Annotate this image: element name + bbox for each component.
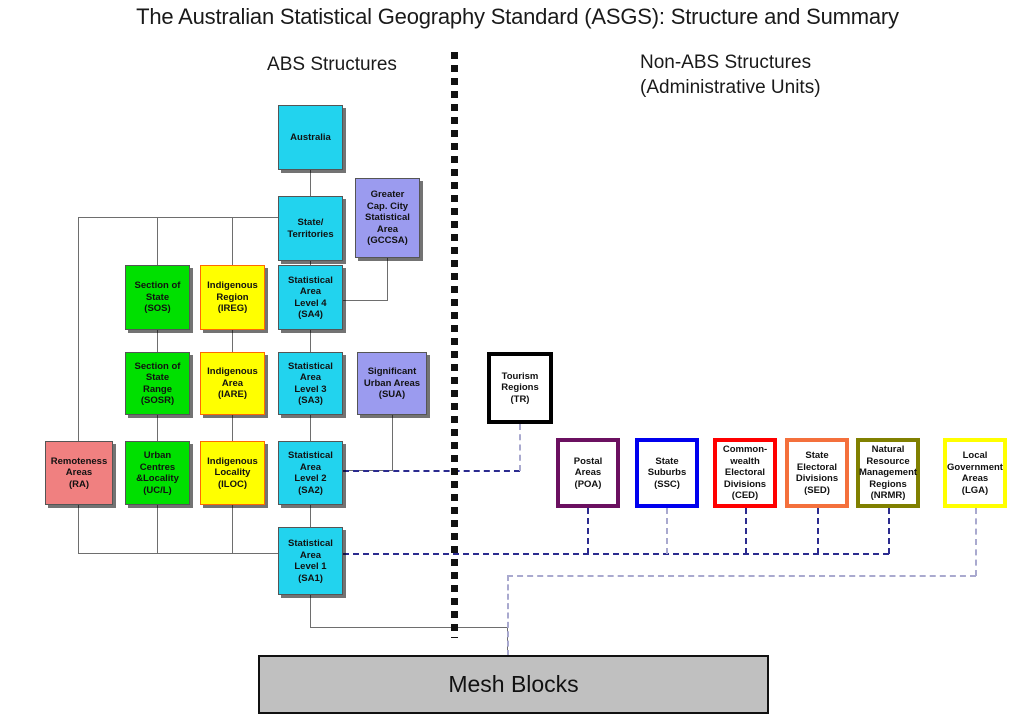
connector-poa-drop: [587, 508, 589, 554]
node-iloc[interactable]: Indigenous Locality (ILOC): [200, 441, 265, 505]
connector-sua-drop: [392, 415, 393, 471]
node-ireg[interactable]: Indigenous Region (IREG): [200, 265, 265, 330]
connector-sa1-dashed-bus: [343, 553, 889, 555]
node-lga[interactable]: Local Government Areas (LGA): [943, 438, 1007, 508]
connector-lga-drop: [975, 508, 977, 576]
connector-sosr-to-ucl: [157, 415, 158, 441]
node-nrmr[interactable]: Natural Resource Management Regions (NRM…: [856, 438, 920, 508]
node-sed[interactable]: State Electoral Divisions (SED): [785, 438, 849, 508]
connector-sa4-to-sa3: [310, 330, 311, 352]
node-sos[interactable]: Section of State (SOS): [125, 265, 190, 330]
connector-iloc-to-bottom-bus: [232, 505, 233, 553]
connector-ssc-drop: [666, 508, 668, 554]
node-ucl[interactable]: Urban Centres &Locality (UC/L): [125, 441, 190, 505]
connector-lga-into-mesh-blocks: [507, 575, 509, 656]
connector-tr-drop: [519, 424, 521, 471]
connector-lga-run-left: [507, 575, 976, 577]
node-sosr[interactable]: Section of State Range (SOSR): [125, 352, 190, 415]
connector-sed-drop: [817, 508, 819, 554]
node-mesh-blocks[interactable]: Mesh Blocks: [258, 655, 769, 714]
node-sua[interactable]: Significant Urban Areas (SUA): [357, 352, 427, 415]
connector-ced-drop: [745, 508, 747, 554]
connector-sa3-to-sa2: [310, 415, 311, 441]
node-australia[interactable]: Australia: [278, 105, 343, 170]
connector-ireg-to-iare: [232, 330, 233, 352]
node-state-territories[interactable]: State/ Territories: [278, 196, 343, 261]
connector-ucl-to-bottom-bus: [157, 505, 158, 553]
node-ra[interactable]: Remoteness Areas (RA): [45, 441, 113, 505]
connector-sos-drop: [157, 217, 158, 265]
connector-bottom-bus: [78, 553, 281, 554]
page-title: The Australian Statistical Geography Sta…: [0, 4, 1035, 30]
node-poa[interactable]: Postal Areas (POA): [556, 438, 620, 508]
node-sa3[interactable]: Statistical Area Level 3 (SA3): [278, 352, 343, 415]
connector-sa2-to-sa1: [310, 505, 311, 527]
node-sa1[interactable]: Statistical Area Level 1 (SA1): [278, 527, 343, 595]
node-sa4[interactable]: Statistical Area Level 4 (SA4): [278, 265, 343, 330]
connector-gccsa-drop: [387, 258, 388, 301]
connector-gccsa-to-sa4: [343, 300, 388, 301]
connector-nrmr-drop: [888, 508, 890, 554]
node-tourism-regions[interactable]: Tourism Regions (TR): [487, 352, 553, 424]
abs-structures-heading: ABS Structures: [172, 52, 492, 77]
connector-sa1-run-right: [310, 627, 508, 628]
connector-top-bus: [78, 217, 281, 218]
abs-nonabs-divider: [451, 52, 458, 638]
connector-sos-to-sosr: [157, 330, 158, 352]
node-ced[interactable]: Common- wealth Electoral Divisions (CED): [713, 438, 777, 508]
connector-ireg-drop: [232, 217, 233, 265]
node-gccsa[interactable]: Greater Cap. City Statistical Area (GCCS…: [355, 178, 420, 258]
node-ssc[interactable]: State Suburbs (SSC): [635, 438, 699, 508]
non-abs-structures-heading: Non-ABS Structures (Administrative Units…: [640, 50, 821, 100]
node-iare[interactable]: Indigenous Area (IARE): [200, 352, 265, 415]
asgs-diagram: The Australian Statistical Geography Sta…: [0, 0, 1035, 719]
connector-australia-to-state: [310, 170, 311, 196]
connector-sa1-drop: [310, 595, 311, 628]
connector-iare-to-iloc: [232, 415, 233, 441]
node-sa2[interactable]: Statistical Area Level 2 (SA2): [278, 441, 343, 505]
connector-sa2-dashed-bus: [343, 470, 520, 472]
